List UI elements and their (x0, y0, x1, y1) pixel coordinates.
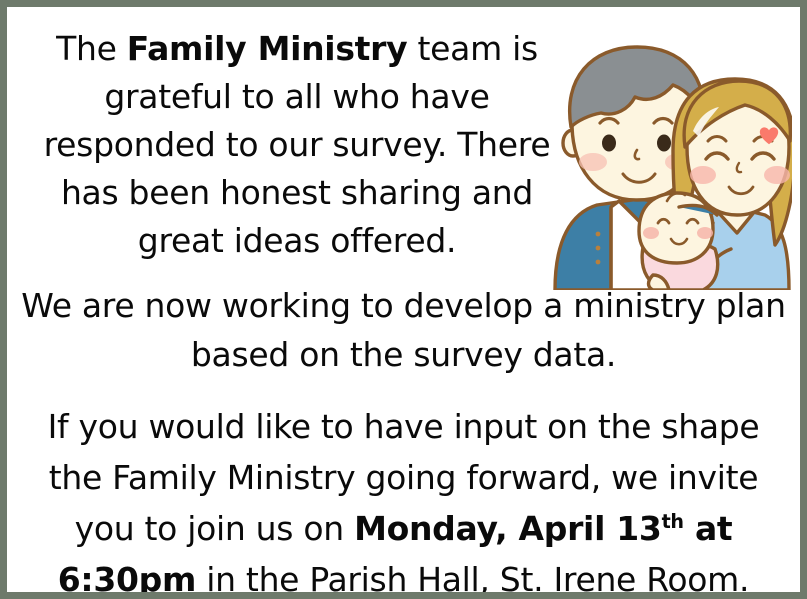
paragraph-plan: We are now working to develop a ministry… (21, 281, 786, 379)
heart-icon (758, 125, 780, 147)
paragraph-invitation: If you would like to have input on the s… (21, 401, 786, 599)
poster-inner: The Family Ministry team is grateful to … (7, 7, 800, 592)
paragraph-gratitude: The Family Ministry team is grateful to … (27, 25, 567, 265)
poster-canvas: The Family Ministry team is grateful to … (0, 0, 807, 599)
